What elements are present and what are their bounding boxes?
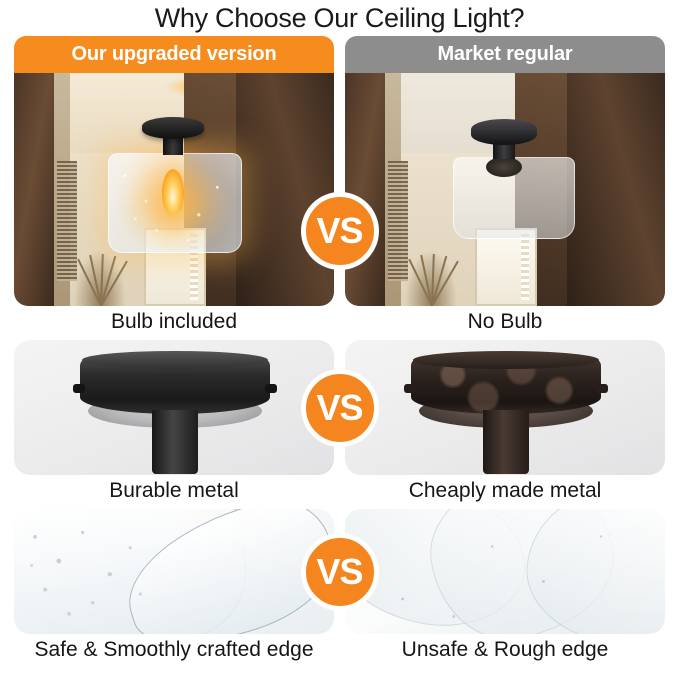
image-cheap-metal-canopy [345,340,665,475]
canopy-pole [152,410,198,474]
captions-row-edge: Safe & Smoothly crafted edge Unsafe & Ro… [0,634,679,668]
decorative-plant [403,246,459,306]
comparison-row-bulb: Our upgraded version [0,36,679,306]
vs-badge-row-metal: VS [301,369,379,447]
panel-market-bulb: Market regular [345,36,665,306]
comparison-row-metal: VS [0,340,679,475]
canopy-top [82,351,268,369]
captions-row-bulb: Bulb included No Bulb [0,306,679,340]
bubble-texture [18,517,188,627]
canopy-top [413,351,599,369]
far-doorway [475,228,537,306]
hallway-scene-unlit [345,73,665,306]
badge-market-regular: Market regular [345,36,665,73]
caption-ours-bulb: Bulb included [14,306,334,340]
caption-market-metal: Cheaply made metal [345,475,665,509]
canopy-screw-left [404,384,416,393]
panel-ours-edge [14,509,334,634]
canopy-screw-right [265,384,277,393]
image-durable-metal-canopy [14,340,334,475]
decorative-plant [72,246,128,306]
left-wall-wood [345,73,385,306]
fixture-canopy-plate [471,119,537,145]
light-bulb [162,169,184,215]
image-lit-ceiling-light [14,73,334,306]
caption-ours-metal: Burable metal [14,475,334,509]
canopy-bad [411,358,601,424]
panel-ours-bulb: Our upgraded version [14,36,334,306]
canopy-good [80,358,270,424]
panel-market-metal [345,340,665,475]
page-title: Why Choose Our Ceiling Light? [0,0,679,36]
rough-texture [345,509,665,634]
right-wall-wood [236,73,334,306]
canopy-pole [483,410,529,474]
badge-our-upgraded-version: Our upgraded version [14,36,334,73]
canopy-screw-right [596,384,608,393]
comparison-row-edge: VS [0,509,679,634]
image-smooth-glass-edge [14,509,334,634]
canopy-screw-left [73,384,85,393]
left-wall-wood [14,73,54,306]
image-unlit-ceiling-light [345,73,665,306]
panel-ours-metal [14,340,334,475]
caption-market-bulb: No Bulb [345,306,665,340]
image-rough-glass-edge [345,509,665,634]
vs-badge-row-edge: VS [301,533,379,611]
captions-row-metal: Burable metal Cheaply made metal [0,475,679,509]
empty-bulb-socket [486,157,522,177]
panel-market-edge [345,509,665,634]
right-wall-wood [567,73,665,306]
fixture-canopy-plate [142,117,204,139]
vs-badge-row-bulb: VS [301,192,379,270]
hallway-scene-lit [14,73,334,306]
caption-market-edge: Unsafe & Rough edge [345,634,665,668]
caption-ours-edge: Safe & Smoothly crafted edge [14,634,334,668]
